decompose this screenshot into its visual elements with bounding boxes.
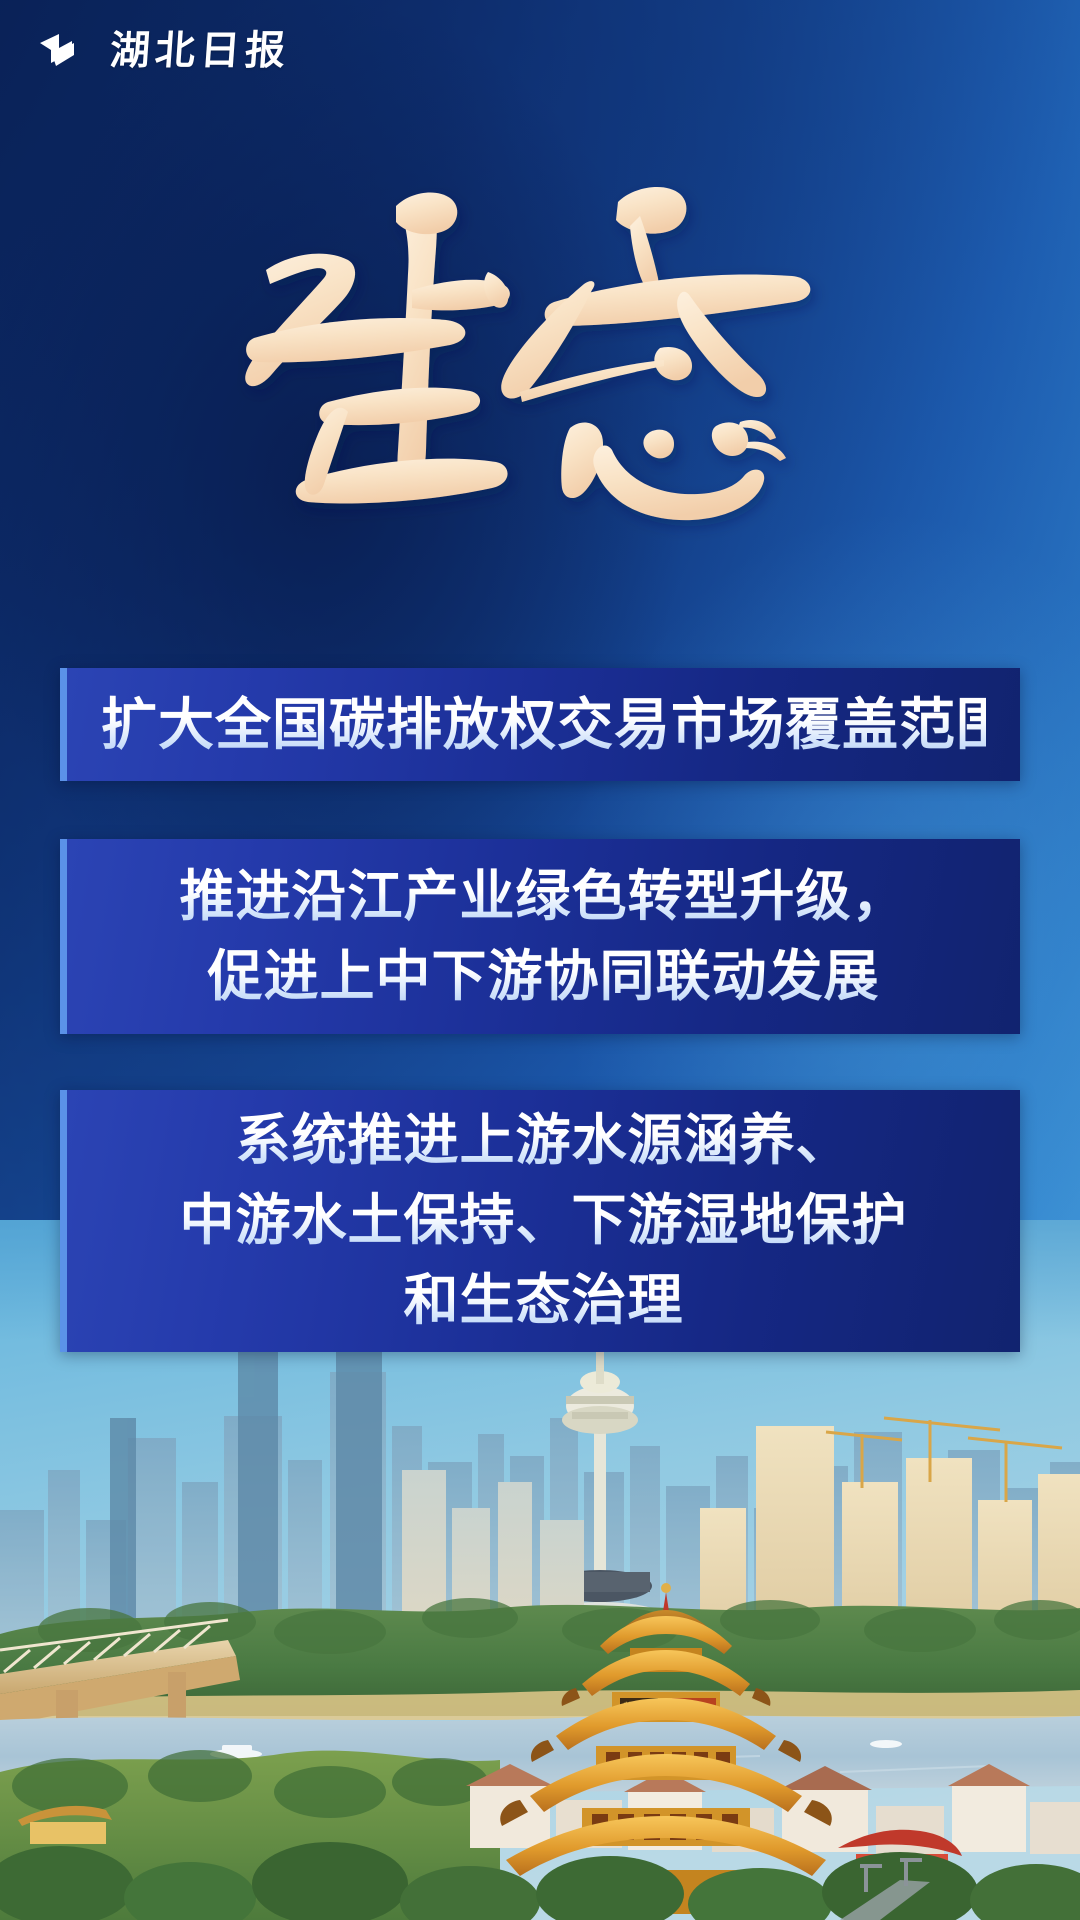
banner-card-1[interactable]: 扩大全国碳排放权交易市场覆盖范围 [60,668,1020,781]
banner-list: 扩大全国碳排放权交易市场覆盖范围 推进沿江产业绿色转型升级， 促进上中下游协同联… [0,668,1080,1352]
calligraphy-char-sheng [245,192,510,503]
calligraphy-title [0,140,1080,560]
brand-logo-text: 湖北日报 [109,31,292,71]
banner-3-line-1: 系统推进上游水源涵养、 [101,1104,986,1178]
banner-2-line-1: 推进沿江产业绿色转型升级， [101,860,986,934]
calligraphy-char-tai [501,187,810,520]
calligraphy-title-svg [220,150,860,550]
poster-root: 湖北日报 [0,0,1080,1920]
banner-card-2[interactable]: 推进沿江产业绿色转型升级， 促进上中下游协同联动发展 [60,839,1020,1034]
banner-3-line-2: 中游水土保持、下游湿地保护 [101,1184,986,1258]
banner-2-line-2: 促进上中下游协同联动发展 [101,940,986,1014]
banner-3-line-3: 和生态治理 [101,1264,986,1338]
banner-card-1-content: 扩大全国碳排放权交易市场覆盖范围 [67,669,1020,780]
brand-logo[interactable]: 湖北日报 [38,30,290,72]
hubei-daily-mark-icon [38,30,96,72]
banner-card-3[interactable]: 系统推进上游水源涵养、 中游水土保持、下游湿地保护 和生态治理 [60,1090,1020,1352]
banner-card-3-content: 系统推进上游水源涵养、 中游水土保持、下游湿地保护 和生态治理 [67,1086,1020,1355]
banner-1-line-1: 扩大全国碳排放权交易市场覆盖范围 [101,687,986,762]
banner-card-2-content: 推进沿江产业绿色转型升级， 促进上中下游协同联动发展 [67,842,1020,1031]
